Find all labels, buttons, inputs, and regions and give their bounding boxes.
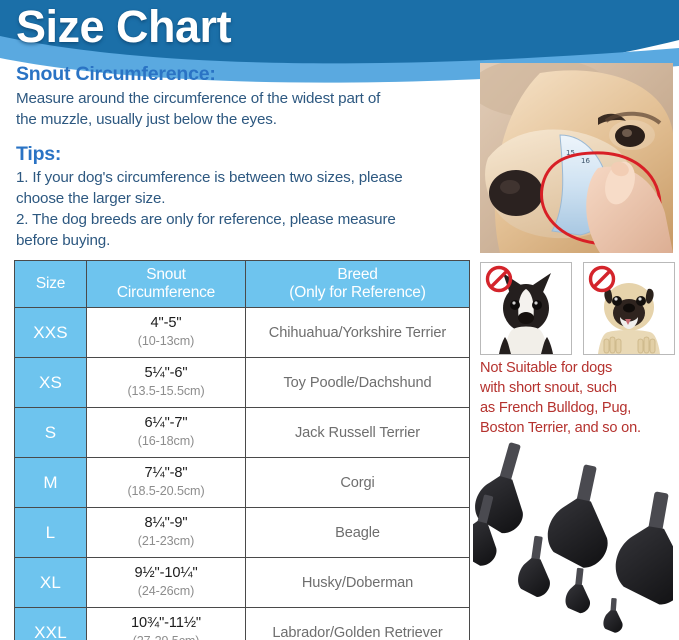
cell-size: S (15, 408, 87, 458)
tips-line-4: before buying. (16, 231, 468, 252)
not-suitable-boston-terrier (480, 262, 572, 355)
warning-line-1: Not Suitable for dogs (480, 358, 678, 378)
snout-inches: 9½"-10¼" (87, 565, 245, 583)
table-row: XL9½"-10¼"(24-26cm)Husky/Doberman (15, 558, 470, 608)
cell-breed: Husky/Doberman (246, 558, 470, 608)
col-header-breed-line2: (Only for Reference) (246, 284, 469, 302)
cell-breed: Chihuahua/Yorkshire Terrier (246, 308, 470, 358)
col-header-breed: Breed (Only for Reference) (246, 261, 470, 308)
not-suitable-pug (583, 262, 675, 355)
cell-breed: Beagle (246, 508, 470, 558)
left-text-column: Snout Circumference: Measure around the … (16, 62, 468, 252)
table-header-row: Size Snout Circumference Breed (Only for… (15, 261, 470, 308)
col-header-size: Size (15, 261, 87, 308)
cell-snout-circumference: 5¼"-6"(13.5-15.5cm) (87, 358, 246, 408)
col-header-snout-line2: Circumference (87, 284, 245, 302)
cell-snout-circumference: 6¼"-7"(16-18cm) (87, 408, 246, 458)
snout-centimeters: (18.5-20.5cm) (87, 483, 245, 500)
svg-text:16: 16 (581, 157, 590, 165)
size-chart-page: Size Chart Snout Circumference: Measure … (0, 0, 679, 640)
snout-inches: 6¼"-7" (87, 415, 245, 433)
not-suitable-photo-row (480, 262, 677, 355)
snout-circumference-heading: Snout Circumference: (16, 62, 468, 86)
snout-centimeters: (27-29.5cm) (87, 633, 245, 640)
snout-inches: 8¼"-9" (87, 515, 245, 533)
page-title: Size Chart (16, 4, 231, 49)
cell-snout-circumference: 8¼"-9"(21-23cm) (87, 508, 246, 558)
not-suitable-warning: Not Suitable for dogs with short snout, … (480, 358, 678, 439)
col-header-snout-line1: Snout (87, 266, 245, 284)
cell-snout-circumference: 9½"-10¼"(24-26cm) (87, 558, 246, 608)
cell-size: L (15, 508, 87, 558)
cell-breed: Jack Russell Terrier (246, 408, 470, 458)
cell-snout-circumference: 10¾"-11½"(27-29.5cm) (87, 608, 246, 640)
cell-breed: Labrador/Golden Retriever (246, 608, 470, 640)
col-header-breed-line1: Breed (246, 266, 469, 284)
size-table-head: Size Snout Circumference Breed (Only for… (15, 261, 470, 308)
cell-size: XXL (15, 608, 87, 640)
size-table-body: XXS4"-5"(10-13cm)Chihuahua/Yorkshire Ter… (15, 308, 470, 640)
snout-centimeters: (16-18cm) (87, 433, 245, 450)
snout-centimeters: (24-26cm) (87, 583, 245, 600)
cell-size: M (15, 458, 87, 508)
table-row: S6¼"-7"(16-18cm)Jack Russell Terrier (15, 408, 470, 458)
cell-breed: Toy Poodle/Dachshund (246, 358, 470, 408)
snout-inches: 10¾"-11½" (87, 615, 245, 633)
cell-size: XL (15, 558, 87, 608)
size-table-wrap: Size Snout Circumference Breed (Only for… (14, 260, 469, 640)
tips-heading: Tips: (16, 143, 468, 166)
cell-snout-circumference: 7¼"-8"(18.5-20.5cm) (87, 458, 246, 508)
size-table: Size Snout Circumference Breed (Only for… (14, 260, 470, 640)
cell-snout-circumference: 4"-5"(10-13cm) (87, 308, 246, 358)
snout-centimeters: (13.5-15.5cm) (87, 383, 245, 400)
snout-inches: 5¼"-6" (87, 365, 245, 383)
snout-centimeters: (21-23cm) (87, 533, 245, 550)
tips-line-3: 2. The dog breeds are only for reference… (16, 210, 468, 231)
intro-line-1: Measure around the circumference of the … (16, 89, 468, 110)
snout-centimeters: (10-13cm) (87, 333, 245, 350)
tips-line-1: 1. If your dog's circumference is betwee… (16, 168, 468, 189)
tips-line-2: choose the larger size. (16, 189, 468, 210)
snout-inches: 4"-5" (87, 315, 245, 333)
warning-line-3: as French Bulldog, Pug, (480, 398, 678, 418)
cell-breed: Corgi (246, 458, 470, 508)
snout-measuring-photo: 1516 1718 19 (480, 63, 673, 253)
table-row: XS5¼"-6"(13.5-15.5cm)Toy Poodle/Dachshun… (15, 358, 470, 408)
table-row: L8¼"-9"(21-23cm)Beagle (15, 508, 470, 558)
page-title-wrap: Size Chart (16, 4, 231, 49)
table-row: M7¼"-8"(18.5-20.5cm)Corgi (15, 458, 470, 508)
warning-line-4: Boston Terrier, and so on. (480, 418, 678, 438)
col-header-snout: Snout Circumference (87, 261, 246, 308)
table-row: XXS4"-5"(10-13cm)Chihuahua/Yorkshire Ter… (15, 308, 470, 358)
intro-line-2: the muzzle, usually just below the eyes. (16, 110, 468, 131)
cell-size: XS (15, 358, 87, 408)
table-row: XXL10¾"-11½"(27-29.5cm)Labrador/Golden R… (15, 608, 470, 640)
muzzle-product-lineup (473, 440, 673, 638)
cell-size: XXS (15, 308, 87, 358)
snout-inches: 7¼"-8" (87, 465, 245, 483)
warning-line-2: with short snout, such (480, 378, 678, 398)
